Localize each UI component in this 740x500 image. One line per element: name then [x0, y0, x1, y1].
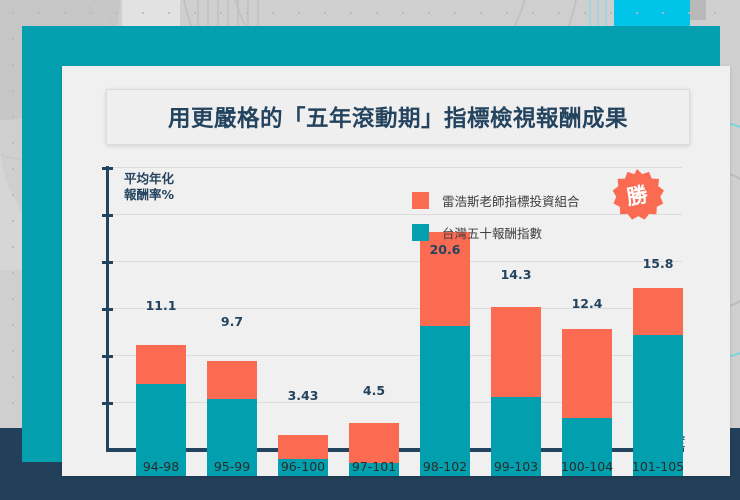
y-axis-line [106, 166, 109, 450]
slide-canvas: 用更嚴格的「五年滾動期」指標檢視報酬成果 平均年化 報酬率% 年度 [0, 0, 740, 500]
legend-item[interactable]: 雷浩斯老師指標投資組合 [412, 191, 580, 210]
category-label: 100-104 [552, 459, 622, 474]
win-badge-label: 勝 [606, 164, 669, 227]
legend-label: 台灣五十報酬指數 [442, 223, 542, 242]
legend-label: 雷浩斯老師指標投資組合 [442, 191, 580, 210]
bar-segment-top[interactable] [349, 423, 399, 463]
category-label: 99-103 [483, 459, 549, 474]
bar-group[interactable] [491, 94, 541, 476]
bar-value-label: 15.8 [633, 256, 683, 271]
bar-segment-top[interactable] [491, 307, 541, 397]
category-label: 97-101 [341, 459, 407, 474]
teal-frame: 用更嚴格的「五年滾動期」指標檢視報酬成果 平均年化 報酬率% 年度 [22, 26, 720, 462]
bar-group[interactable] [349, 94, 399, 476]
bar-segment-top[interactable] [207, 361, 257, 399]
bar-value-label: 12.4 [562, 296, 612, 311]
bar-value-label: 3.43 [278, 388, 328, 403]
bar-value-label: 9.7 [207, 314, 257, 329]
bar-group[interactable] [420, 94, 470, 476]
content-card: 用更嚴格的「五年滾動期」指標檢視報酬成果 平均年化 報酬率% 年度 [62, 66, 730, 476]
bar-value-label: 11.1 [136, 298, 186, 313]
bar-segment-bottom[interactable] [420, 326, 470, 476]
bar-group[interactable] [633, 94, 683, 476]
bar-segment-top[interactable] [278, 435, 328, 459]
bar-segment-top[interactable] [633, 288, 683, 335]
legend-swatch-icon [412, 192, 429, 209]
bar-segment-top[interactable] [136, 345, 186, 384]
category-label: 94-98 [128, 459, 194, 474]
category-label: 96-100 [270, 459, 336, 474]
bar-segment-bottom[interactable] [633, 335, 683, 476]
bar-group[interactable] [562, 94, 612, 476]
bar-segment-top[interactable] [562, 329, 612, 418]
bar-group[interactable] [136, 94, 186, 476]
category-label: 95-99 [199, 459, 265, 474]
legend-swatch-icon [412, 224, 429, 241]
stacked-bar-chart: 平均年化 報酬率% 年度 [62, 66, 730, 476]
bar-group[interactable] [278, 94, 328, 476]
legend-item[interactable]: 台灣五十報酬指數 [412, 223, 580, 242]
bar-value-label: 4.5 [349, 383, 399, 398]
bar-group[interactable] [207, 94, 257, 476]
category-label: 98-102 [412, 459, 478, 474]
win-badge: 勝 [610, 168, 664, 222]
chart-legend: 雷浩斯老師指標投資組合 台灣五十報酬指數 [412, 191, 580, 255]
category-label: 101-105 [623, 459, 693, 474]
bar-value-label: 14.3 [491, 267, 541, 282]
